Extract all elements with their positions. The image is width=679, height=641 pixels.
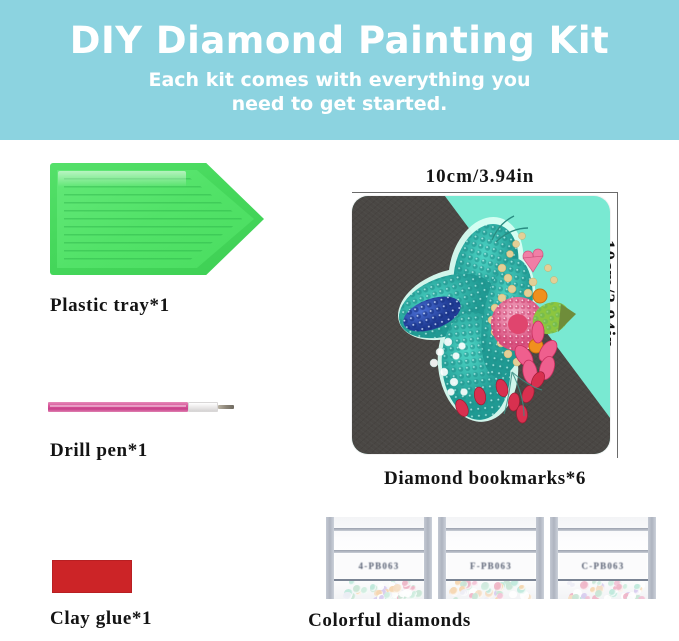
packet-beads [558, 581, 648, 599]
diamond-packet: 4-PB063 [326, 517, 432, 599]
colorful-diamonds-caption: Colorful diamonds [0, 610, 679, 632]
packet-seal-left [550, 517, 558, 599]
drill-pen-caption: Drill pen*1 [50, 440, 148, 462]
diamond-packet: F-PB063 [438, 517, 544, 599]
header-subtitle-line1: Each kit comes with everything you [0, 69, 679, 93]
header-subtitle: Each kit comes with everything you need … [0, 61, 679, 117]
packet-zip-mid [438, 550, 544, 553]
packet-seal-right [648, 517, 656, 599]
packet-zip-mid [550, 550, 656, 553]
packet-label: C-PB063 [559, 554, 647, 578]
bookmark-width-label: 10cm/3.94in [355, 166, 605, 188]
diamond-bookmark-image [352, 196, 610, 454]
drill-pen-image [48, 400, 240, 414]
packet-zip-top [550, 528, 656, 531]
diamond-packet: C-PB063 [550, 517, 656, 599]
packet-zip-top [438, 528, 544, 531]
bookmark-butterfly-artwork [352, 196, 610, 454]
bookmark-width-rule [352, 192, 618, 193]
header-subtitle-line2: need to get started. [0, 93, 679, 117]
plastic-tray-caption: Plastic tray*1 [50, 295, 170, 317]
packet-beads [446, 581, 536, 599]
packet-seal-right [536, 517, 544, 599]
packet-beads [334, 581, 424, 599]
packet-seal-left [326, 517, 334, 599]
packet-label: 4-PB063 [335, 554, 423, 578]
header-banner: DIY Diamond Painting Kit Each kit comes … [0, 0, 679, 140]
packet-zip-top [326, 528, 432, 531]
pen-tip [218, 405, 234, 409]
diamond-packets-image: 4-PB063 F-PB063 C-PB063 [326, 517, 656, 599]
pen-barrel-highlight [50, 405, 186, 407]
diamond-bookmarks-caption: Diamond bookmarks*6 [352, 468, 618, 490]
plastic-tray-image [50, 163, 264, 275]
packet-zip-mid [326, 550, 432, 553]
page-title: DIY Diamond Painting Kit [0, 0, 679, 61]
packet-label: F-PB063 [447, 554, 535, 578]
packet-seal-right [424, 517, 432, 599]
packet-seal-left [438, 517, 446, 599]
pen-barrel [48, 402, 188, 412]
clay-glue-image [52, 560, 132, 593]
pen-collar [188, 402, 218, 412]
tray-highlight [58, 171, 186, 187]
